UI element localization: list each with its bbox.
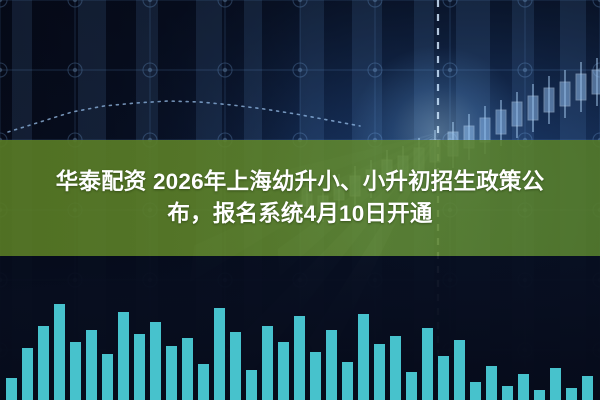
headline-line-1: 华泰配资 2026年上海幼升小、小升初招生政策公 xyxy=(56,166,545,198)
banner-image: 华泰配资 2026年上海幼升小、小升初招生政策公 布，报名系统4月10日开通 xyxy=(0,0,600,400)
headline-line-2: 布，报名系统4月10日开通 xyxy=(167,198,432,230)
headline-band: 华泰配资 2026年上海幼升小、小升初招生政策公 布，报名系统4月10日开通 xyxy=(0,140,600,256)
